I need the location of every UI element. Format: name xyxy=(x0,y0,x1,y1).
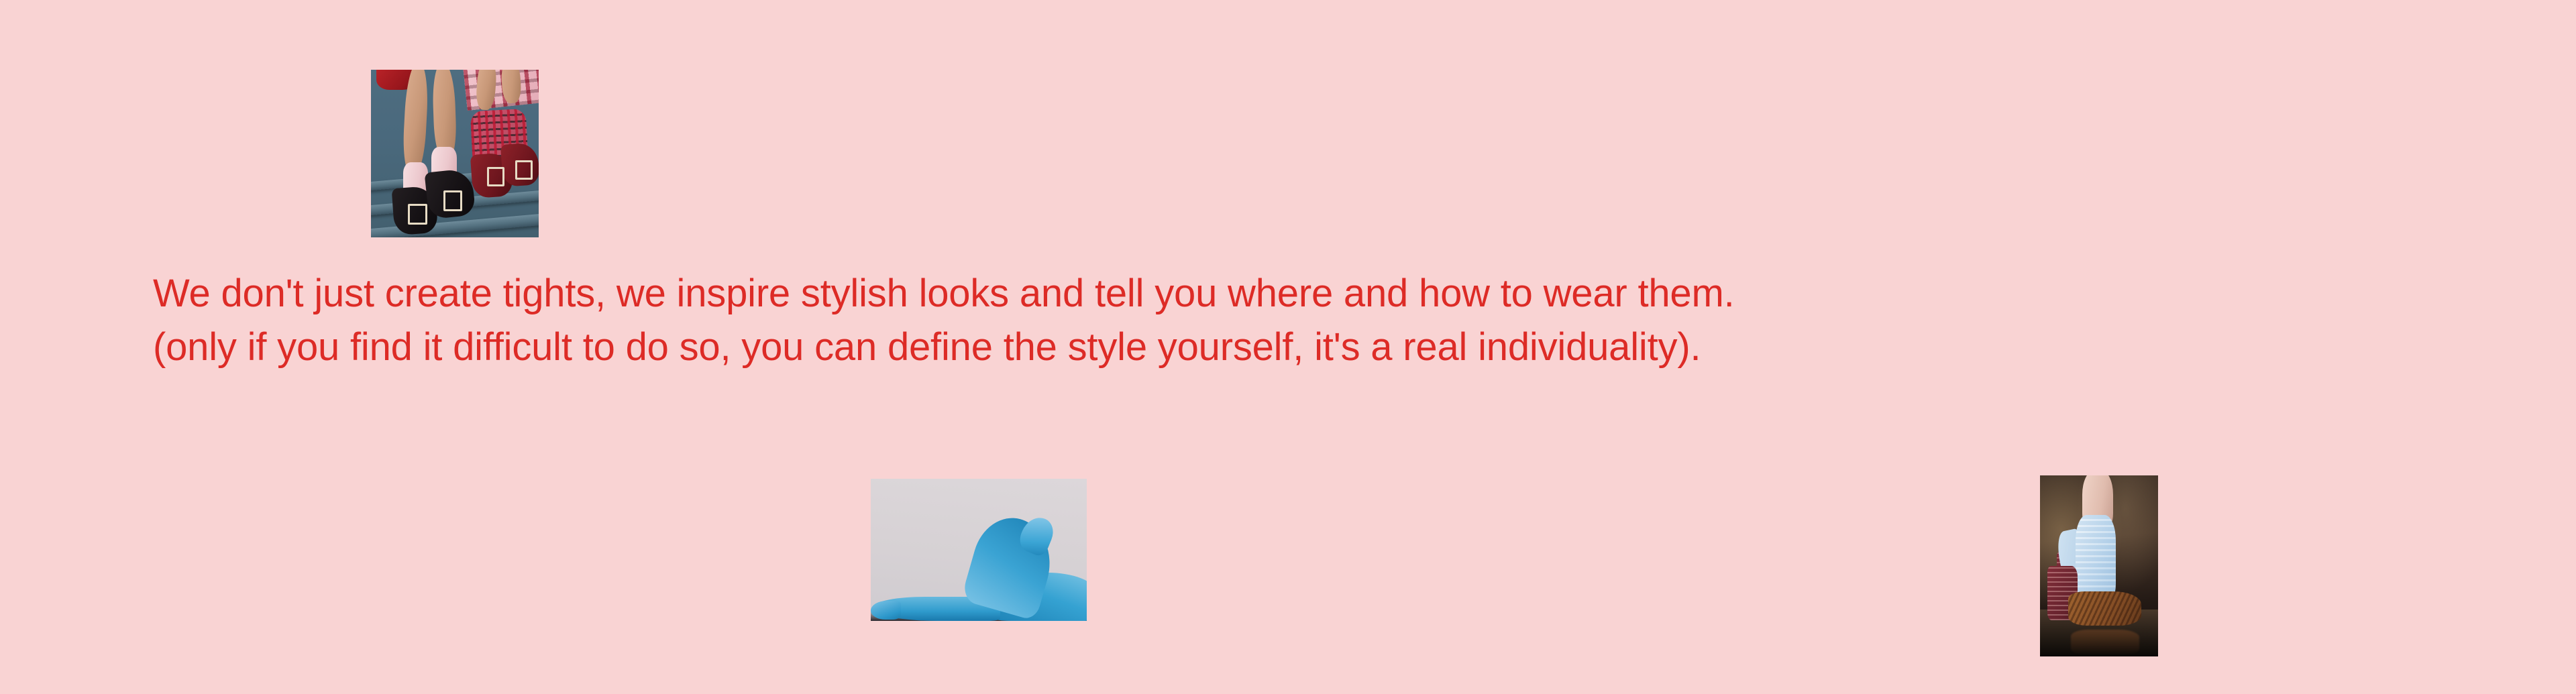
image-blue-socks-brown-shoes[interactable] xyxy=(2040,475,2158,656)
photo2-lower-foot xyxy=(871,601,901,620)
headline-line-secondary: (only if you find it difficult to do so,… xyxy=(153,321,2487,374)
image-legs-on-steps[interactable] xyxy=(371,70,539,237)
photo3-shoe-reflection xyxy=(2071,630,2139,655)
photo1-shoe-buckle xyxy=(515,160,533,180)
photo1-shoe-buckle xyxy=(487,167,504,186)
headline-line-primary: We don't just create tights, we inspire … xyxy=(153,267,2487,321)
photo1-shoe-buckle xyxy=(408,204,427,225)
photo3-crocodile-shoe xyxy=(2068,591,2141,626)
image-blue-tights[interactable] xyxy=(871,479,1087,621)
page-root: We don't just create tights, we inspire … xyxy=(0,0,2576,694)
headline-block: We don't just create tights, we inspire … xyxy=(153,267,2487,374)
photo1-shoe-buckle xyxy=(443,190,463,211)
